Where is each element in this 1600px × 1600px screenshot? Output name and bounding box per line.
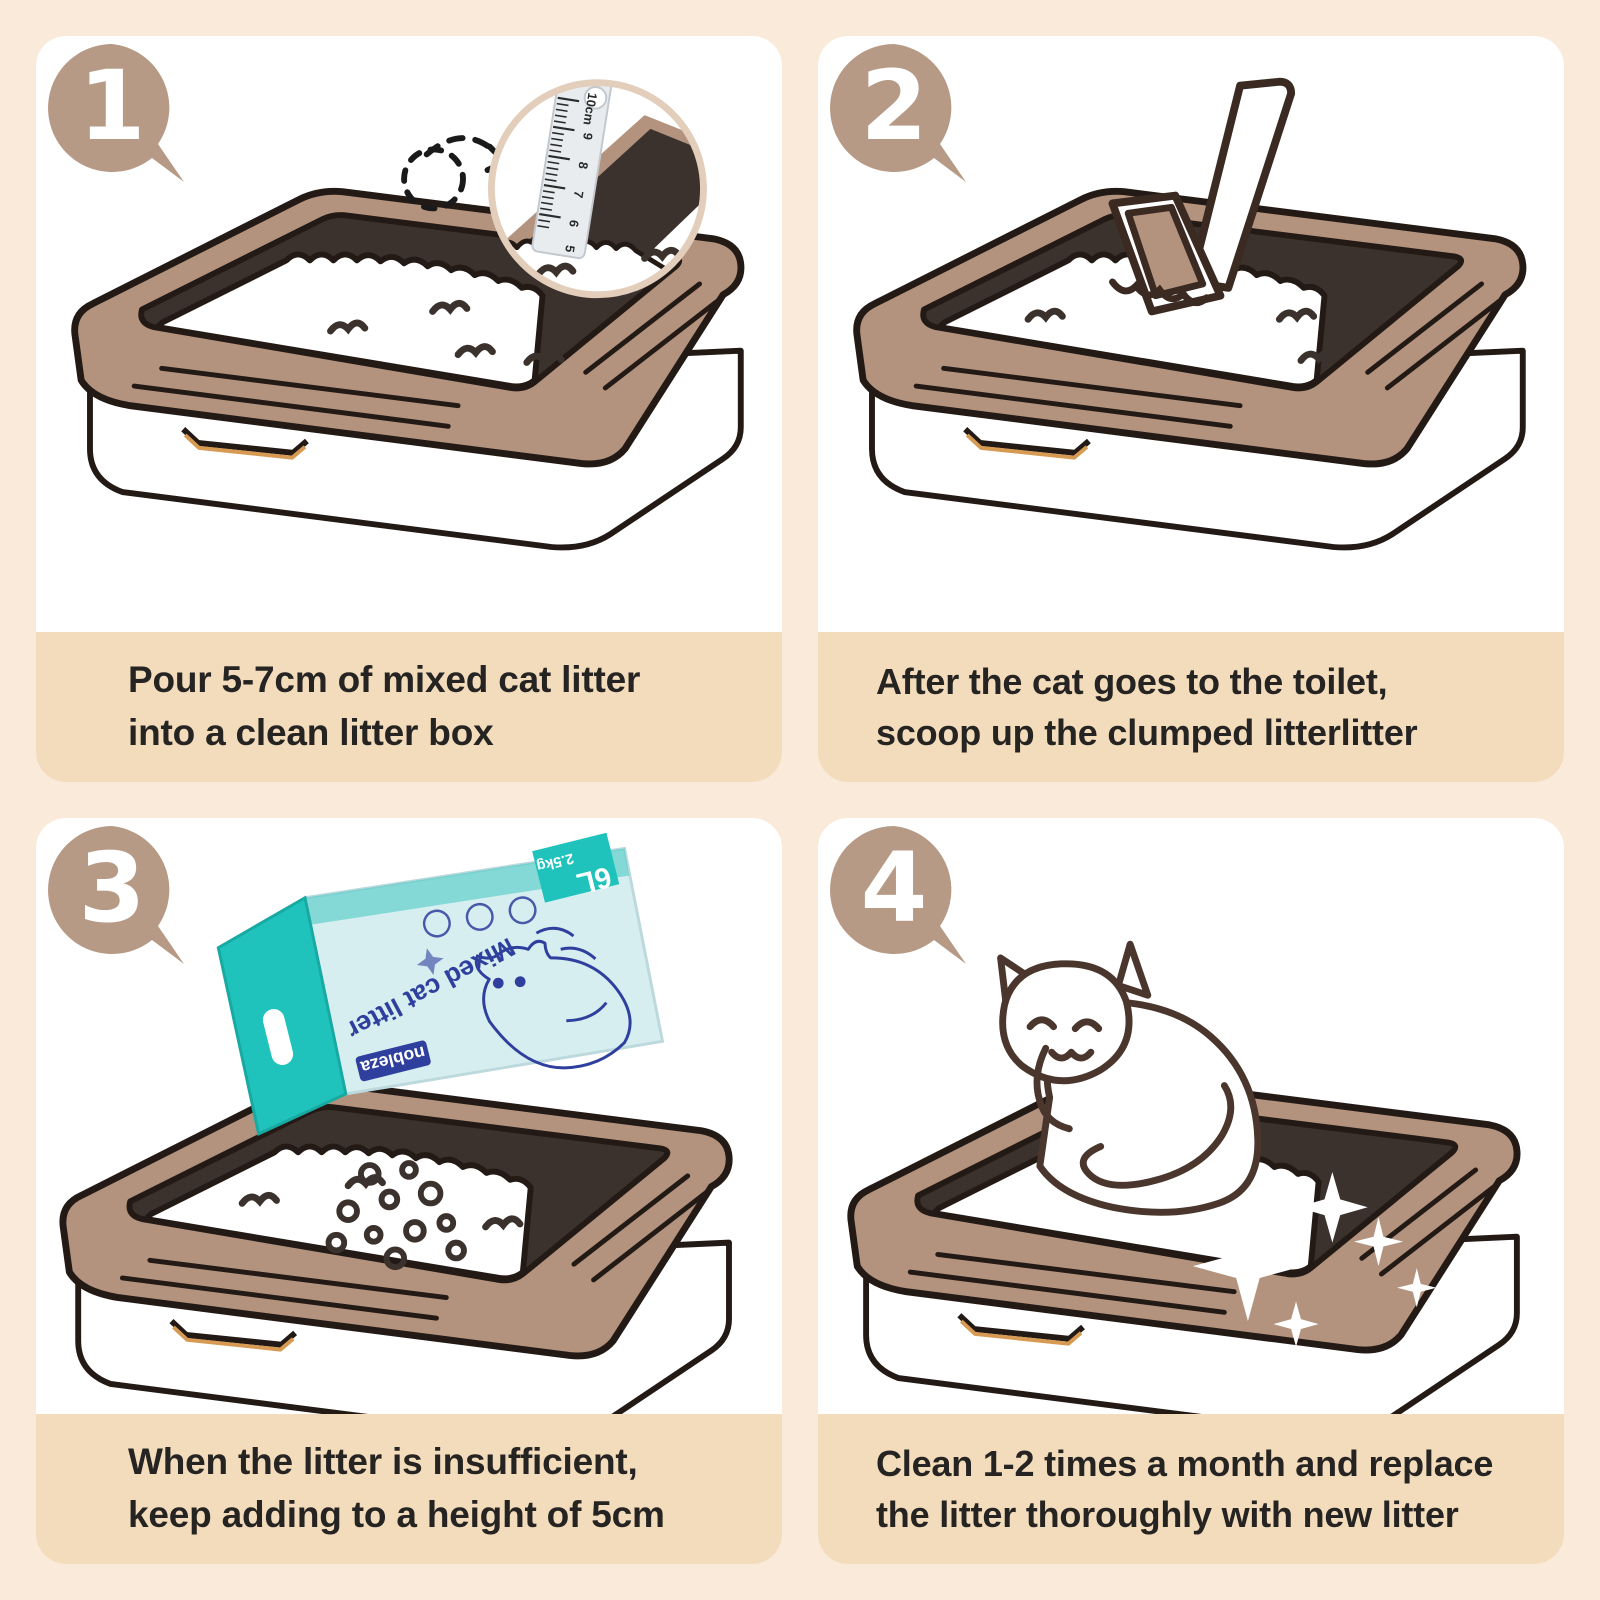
step-number-badge-3: 3 (44, 822, 196, 974)
caption-line: After the cat goes to the toilet, (876, 656, 1564, 707)
step-number-badge-1: 1 (44, 40, 196, 192)
caption-line: scoop up the clumped litterlitter (876, 707, 1564, 758)
caption-line: When the litter is insufficient, (128, 1436, 782, 1489)
step-number-1: 1 (44, 40, 180, 172)
step-4-caption: Clean 1-2 times a month and replace the … (818, 1414, 1564, 1564)
step-2-illustration: 2 (818, 36, 1564, 632)
step-panel-2: 2 After the cat goes to the toilet, scoo… (818, 36, 1564, 782)
infographic-board: 10cm 9 8 7 6 5 1 (0, 0, 1600, 1600)
step-number-3: 3 (44, 822, 180, 954)
step-1-illustration: 10cm 9 8 7 6 5 1 (36, 36, 782, 632)
step-3-caption: When the litter is insufficient, keep ad… (36, 1414, 782, 1564)
step-panel-4: 4 Clean 1-2 times a month and replace th… (818, 818, 1564, 1564)
step-1-caption: Pour 5-7cm of mixed cat litter into a cl… (36, 632, 782, 782)
caption-line: Pour 5-7cm of mixed cat litter (128, 654, 782, 707)
caption-line: into a clean litter box (128, 707, 782, 760)
step-number-badge-2: 2 (826, 40, 978, 192)
litter-box-3 (63, 1083, 729, 1414)
step-3-illustration: 6L 2.5kg Mixed cat litter nobleza (36, 818, 782, 1414)
step-2-caption: After the cat goes to the toilet, scoop … (818, 632, 1564, 782)
step-4-illustration: 4 (818, 818, 1564, 1414)
step-panel-1: 10cm 9 8 7 6 5 1 (36, 36, 782, 782)
caption-line: the litter thoroughly with new litter (876, 1489, 1564, 1540)
step-number-2: 2 (826, 40, 962, 172)
step-number-4: 4 (826, 822, 962, 954)
step-panel-3: 6L 2.5kg Mixed cat litter nobleza (36, 818, 782, 1564)
caption-line: keep adding to a height of 5cm (128, 1489, 782, 1542)
step-number-badge-4: 4 (826, 822, 978, 974)
caption-line: Clean 1-2 times a month and replace (876, 1438, 1564, 1489)
